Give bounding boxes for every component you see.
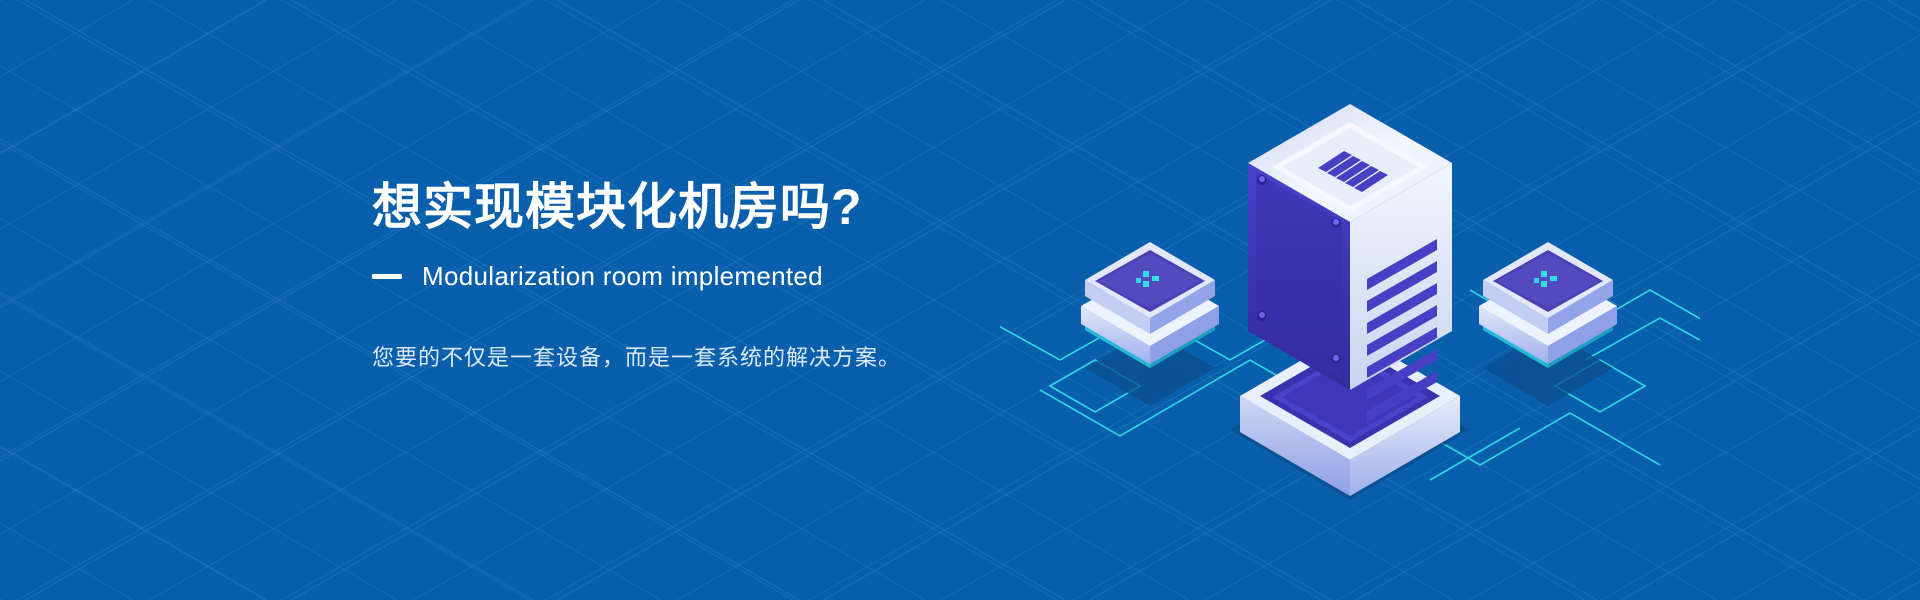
- isometric-server-illustration: [1000, 60, 1700, 540]
- chip-module-right: [1479, 242, 1617, 368]
- page-subtitle: Modularization room implemented: [422, 261, 823, 292]
- hero-banner: 想实现模块化机房吗? Modularization room implement…: [0, 0, 1920, 600]
- dash-icon: [372, 274, 402, 279]
- chip-module-left: [1081, 242, 1219, 368]
